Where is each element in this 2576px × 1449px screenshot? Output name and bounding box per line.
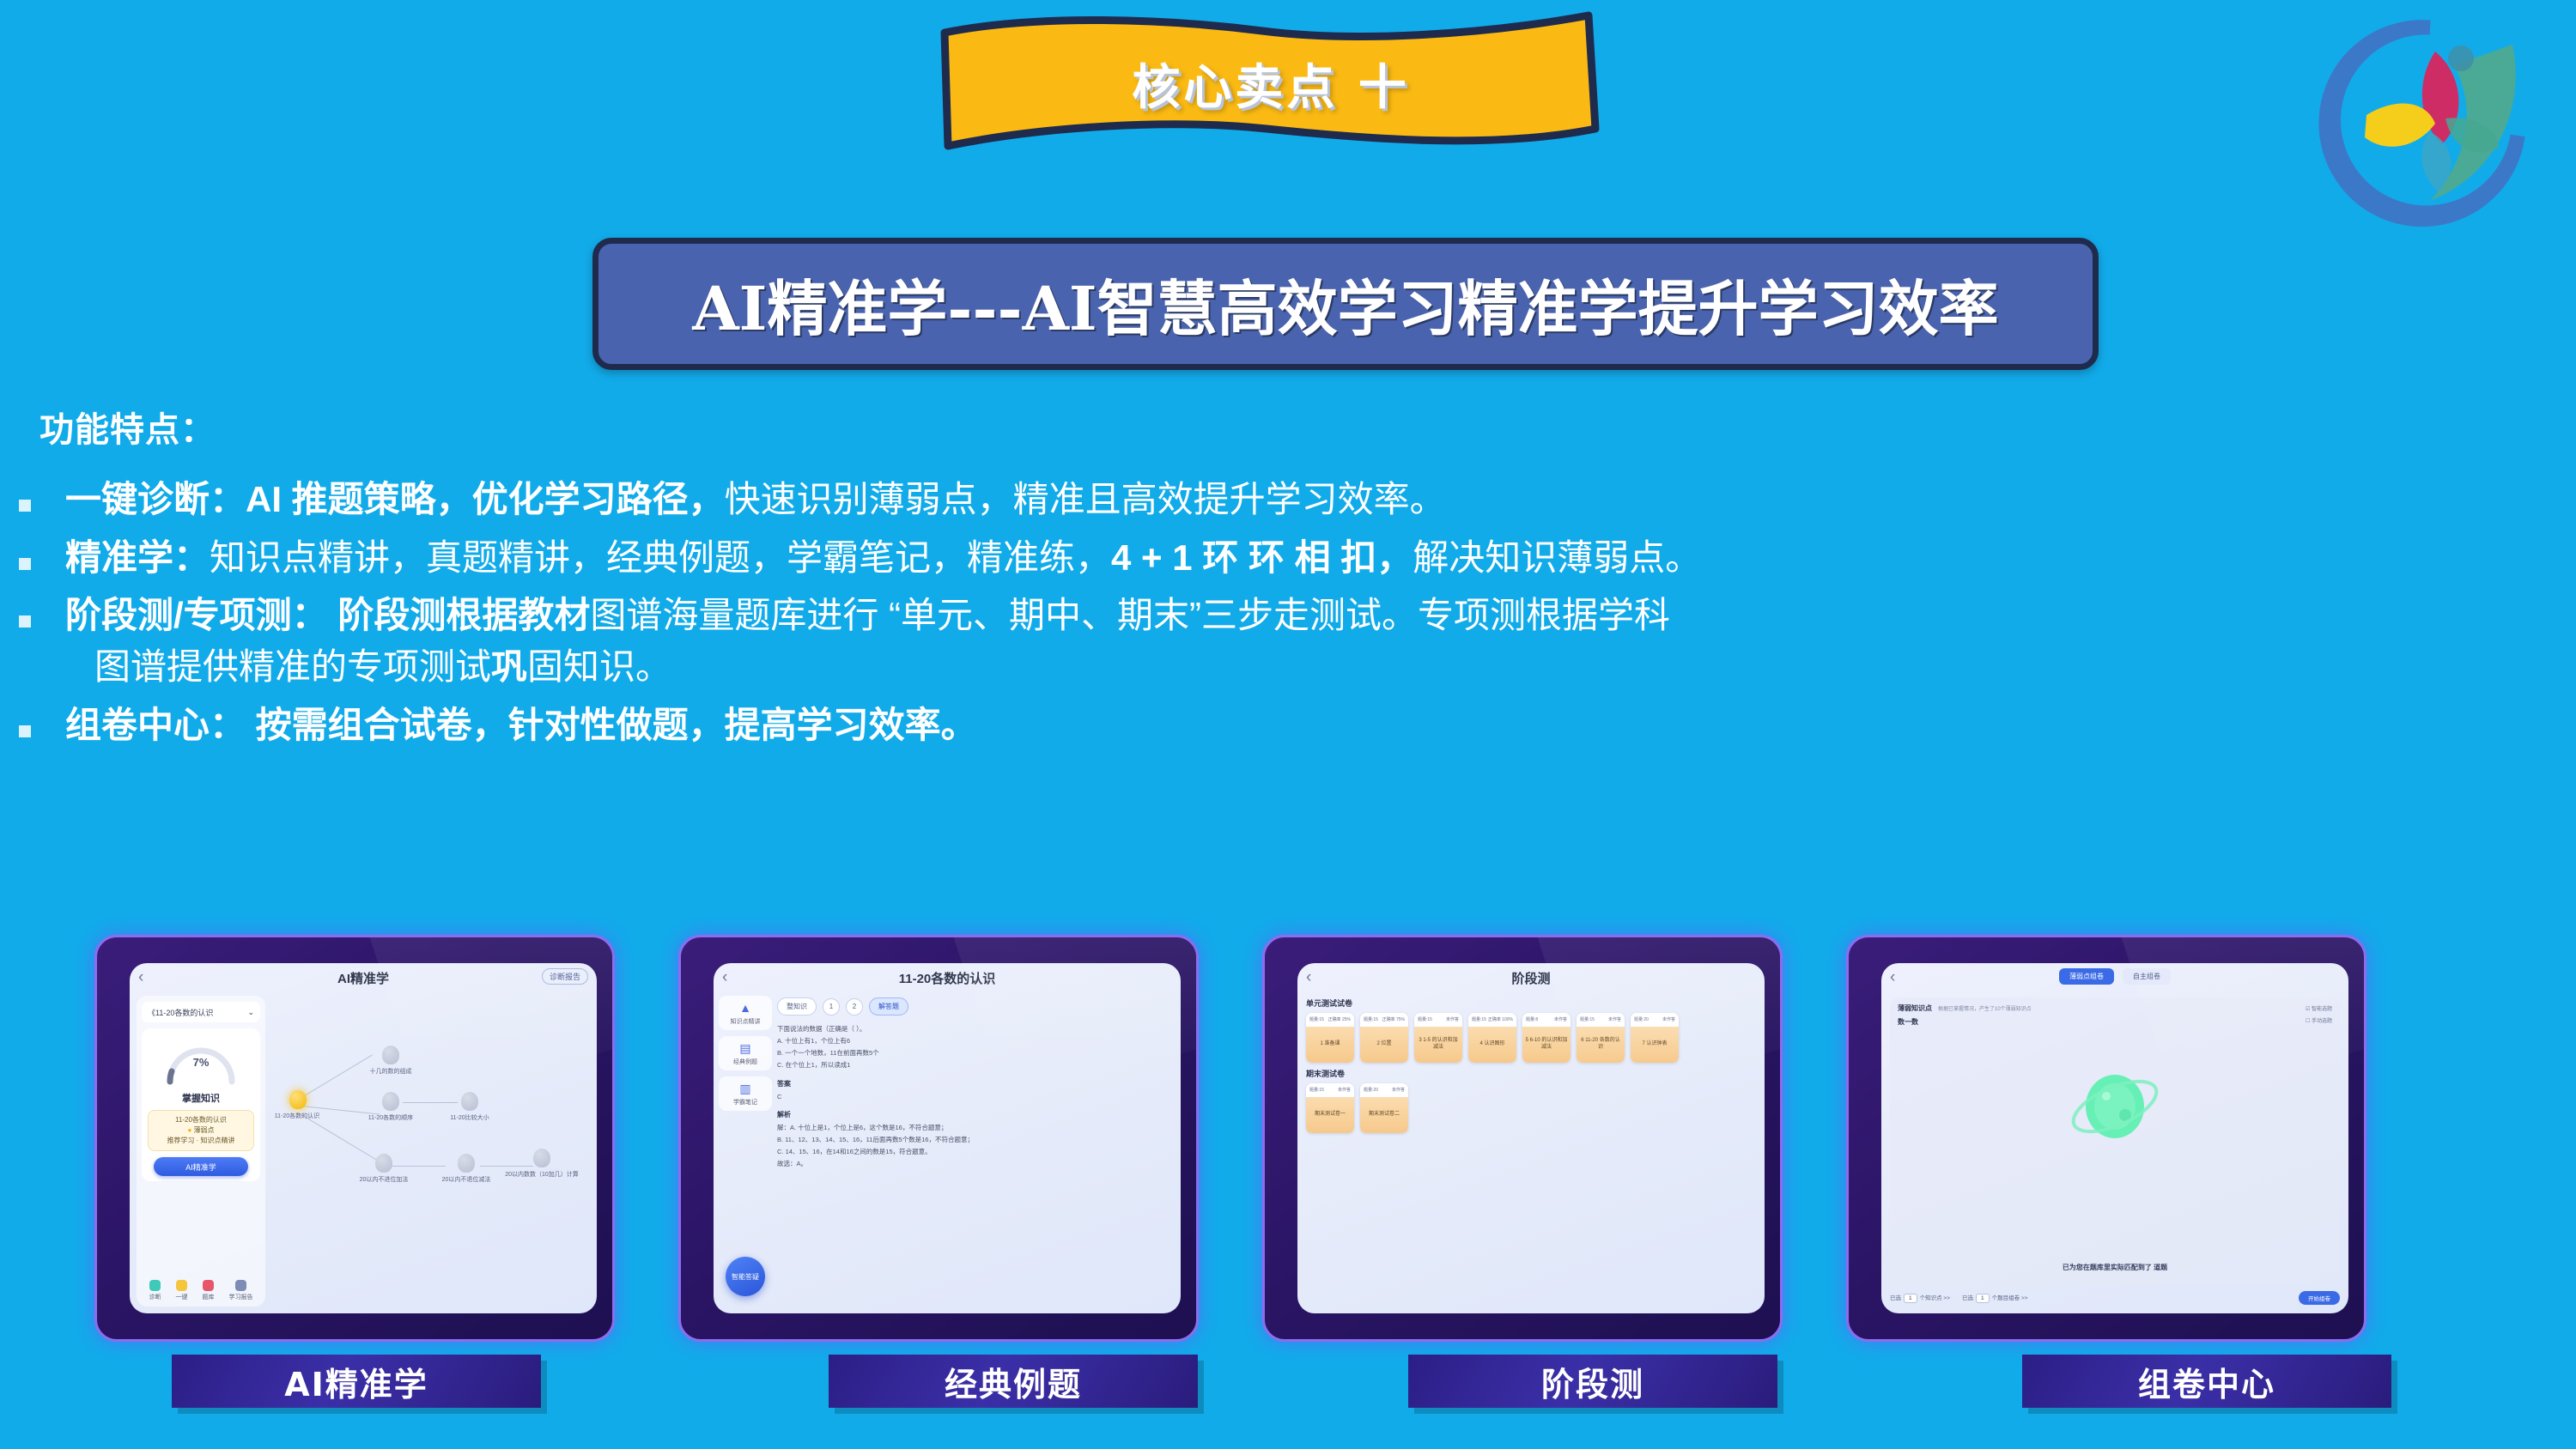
screen-title: 阶段测 bbox=[1297, 969, 1765, 987]
card-title: 4 认识图形 bbox=[1468, 1027, 1516, 1063]
graph-edge bbox=[480, 1166, 533, 1167]
slide-title-bar: AI精准学---AI智慧高效学习精准学提升学习效率 bbox=[592, 238, 2099, 370]
checkbox-auto-select[interactable]: ☑ 智能选题 bbox=[2306, 1004, 2332, 1016]
loading-animation bbox=[1890, 1059, 2340, 1154]
sidebar-item-report[interactable]: 学习报告 bbox=[229, 1280, 253, 1301]
footer-left-prefix: 已选 bbox=[1890, 1295, 1901, 1301]
company-logo bbox=[2301, 7, 2559, 239]
footer-mid-value[interactable]: 1 bbox=[1976, 1294, 1990, 1303]
question-line: C. 在个位上1，所以读成1 bbox=[777, 1059, 1174, 1071]
bullet-3-line2-strong: 巩 bbox=[491, 646, 527, 687]
slide-root: 核心卖点 十 AI精准学---AI智慧高效学习精准学提升学习效率 功能特点： 一… bbox=[0, 0, 2576, 1449]
weak-point-line2: 薄弱点 bbox=[194, 1126, 215, 1134]
planet-loading-icon bbox=[2064, 1062, 2166, 1151]
checkbox-auto-label: 智能选题 bbox=[2312, 1007, 2332, 1012]
panel-paper-builder[interactable]: ‹ 薄弱点组卷 自主组卷 薄弱知识点 根据已掌握情况，产生了10个薄弱知识点 数… bbox=[1829, 930, 2379, 1342]
screen-topbar: ‹ AI精准学 诊断报告 bbox=[130, 963, 597, 992]
selected-question-count: 已选1个题目组卷 >> bbox=[1962, 1293, 2028, 1303]
graph-node-label: 20以内数数（10加几）计算 bbox=[505, 1171, 579, 1179]
caption-label: 组卷中心 bbox=[2138, 1358, 2275, 1405]
tab-knowledge[interactable]: 整知识 bbox=[777, 997, 817, 1016]
bullet-marker-icon bbox=[19, 725, 31, 737]
study-icon bbox=[176, 1280, 187, 1291]
test-card[interactable]: 题量:8未作答 5 6-10 的认识和加减法 bbox=[1522, 1013, 1571, 1063]
explanation-line: 解：A. 十位上是1，个位上是6，这个数是16，不符合题意； bbox=[777, 1122, 1174, 1134]
tablet-frame: ‹ 阶段测 单元测试试卷 题量:15正确率 25% 1 准备课 题量:15正确率… bbox=[1262, 935, 1783, 1342]
ai-precision-button[interactable]: AI精准学 bbox=[154, 1157, 248, 1176]
slide-title: AI精准学---AI智慧高效学习精准学提升学习效率 bbox=[692, 261, 1998, 348]
card-count: 题量:15 bbox=[1418, 1016, 1432, 1022]
bullet-3-strong: 阶段测/专项测： 阶段测根据教材 bbox=[65, 595, 590, 635]
graph-node[interactable] bbox=[382, 1092, 399, 1111]
bullet-3-line2-b: 固知识。 bbox=[527, 646, 671, 687]
chapter-dropdown[interactable]: 《11-20各数的认识 ⌄ bbox=[142, 1002, 260, 1022]
mastery-percent: 7% bbox=[161, 1056, 240, 1069]
card-title: 期末测试卷二 bbox=[1360, 1097, 1408, 1133]
match-result-note: 已为您在题库里实际匹配到了 道题 bbox=[1890, 1263, 2340, 1272]
panel-classic-examples[interactable]: ‹ 11-20各数的认识 ▲ 知识点精讲 ▤ 经典例题 ▥ bbox=[661, 930, 1211, 1342]
footer-mid-suffix: 个题目组卷 >> bbox=[1992, 1295, 2028, 1301]
card-rate: 未作答 bbox=[1608, 1016, 1621, 1022]
footer-left-value[interactable]: 1 bbox=[1904, 1294, 1917, 1303]
practice-icon bbox=[203, 1280, 214, 1291]
card-rate: 未作答 bbox=[1338, 1087, 1351, 1093]
card-title: 1 准备课 bbox=[1306, 1027, 1354, 1063]
weak-point-desc: 根据已掌握情况，产生了10个薄弱知识点 bbox=[1938, 1004, 2032, 1012]
knowledge-icon: ▲ bbox=[720, 1002, 770, 1014]
tablet-frame: ‹ 11-20各数的认识 ▲ 知识点精讲 ▤ 经典例题 ▥ bbox=[678, 935, 1199, 1342]
mastery-card: 7% 掌握知识 11-20各数的认识 ● 薄弱点 推荐学习 · 知识点精讲 AI… bbox=[142, 1028, 260, 1181]
logo-icon bbox=[2301, 7, 2559, 239]
graph-edge bbox=[301, 1055, 373, 1098]
screen-title: 11-20各数的认识 bbox=[714, 969, 1181, 987]
bullet-2-strong-2: 4 + 1 环 环 相 扣， bbox=[1111, 537, 1413, 578]
graph-node-label: 20以内不退位减法 bbox=[429, 1176, 503, 1184]
panel-ai-precision-learning[interactable]: ‹ AI精准学 诊断报告 《11-20各数的认识 ⌄ bbox=[77, 930, 627, 1342]
feature-bullet-4: 组卷中心： 按需组合试卷，针对性做题，提高学习效率。 bbox=[0, 700, 2576, 751]
tab-page-1[interactable]: 1 bbox=[823, 998, 840, 1016]
sidebar-item-diagnose[interactable]: 诊断 bbox=[149, 1280, 161, 1301]
diagnose-label: 诊断 bbox=[149, 1294, 161, 1300]
tab-answer[interactable]: 解答题 bbox=[869, 997, 908, 1016]
graph-node-root[interactable] bbox=[289, 1090, 307, 1109]
weak-point-line3: 推荐学习 · 知识点精讲 bbox=[151, 1136, 251, 1146]
card-rate: 未作答 bbox=[1662, 1016, 1675, 1022]
bullet-marker-icon bbox=[19, 615, 31, 627]
panel-captions: AI精准学 经典例题 阶段测 组卷中心 bbox=[0, 1355, 2576, 1410]
knowledge-graph[interactable]: 11-20各数的认识 十几的数的组成 11-20各数的顺序 11-20比较大小 … bbox=[276, 997, 592, 1307]
explanation-line: C. 14、15、16，在14和16之间的数是15，符合题意。 bbox=[777, 1146, 1174, 1158]
card-rate: 未作答 bbox=[1392, 1087, 1405, 1093]
builder-body: 薄弱知识点 根据已掌握情况，产生了10个薄弱知识点 数一数 ☑ 智能选题 ☐ bbox=[1890, 997, 2340, 1284]
diagnosis-report-button[interactable]: 诊断报告 bbox=[542, 968, 588, 985]
bullet-3-line2-a: 图谱提供精准的专项测试 bbox=[94, 646, 491, 687]
builder-footer: 已选1个知识点 >> 已选1个题目组卷 >> 开始组卷 bbox=[1890, 1288, 2340, 1308]
example-icon: ▤ bbox=[720, 1042, 770, 1054]
answer-value: C bbox=[777, 1091, 1174, 1103]
selected-knowledge-count: 已选1个知识点 >> bbox=[1890, 1293, 1950, 1303]
explanation-line: 故选：A。 bbox=[777, 1158, 1174, 1170]
final-test-card-grid: 题量:15未作答 期末测试卷一 题量:20未作答 期末测试卷二 bbox=[1297, 1083, 1765, 1133]
feature-bullet-1: 一键诊断：AI 推题策略，优化学习路径，快速识别薄弱点，精准且高效提升学习效率。 bbox=[0, 474, 2576, 525]
card-title: 2 位置 bbox=[1360, 1027, 1408, 1063]
bullet-2-normal-2: 解决知识薄弱点。 bbox=[1413, 537, 1701, 578]
card-rate: 未作答 bbox=[1554, 1016, 1567, 1022]
graph-node[interactable] bbox=[461, 1092, 478, 1111]
card-count: 题量:15 bbox=[1309, 1016, 1324, 1022]
card-title: 7 认识钟表 bbox=[1631, 1027, 1679, 1063]
test-card[interactable]: 题量:15正确率 75% 2 位置 bbox=[1360, 1013, 1408, 1063]
weak-point-title: 11-20各数的认识 bbox=[151, 1115, 251, 1125]
tab-self-paper[interactable]: 自主组卷 bbox=[2123, 968, 2171, 985]
nav-item-example[interactable]: ▤ 经典例题 bbox=[719, 1036, 772, 1070]
card-count: 题量:15 bbox=[1580, 1016, 1595, 1022]
card-title: 6 11-20 各数的认识 bbox=[1577, 1027, 1625, 1063]
checkbox-manual-label: 手动选题 bbox=[2312, 1019, 2332, 1024]
test-card[interactable]: 题量:15未作答 6 11-20 各数的认识 bbox=[1577, 1013, 1625, 1063]
graph-edge bbox=[391, 1166, 446, 1167]
practice-label: 题库 bbox=[203, 1294, 215, 1300]
nav-notes-label: 学霸笔记 bbox=[733, 1100, 757, 1106]
screenshot-panels: ‹ AI精准学 诊断报告 《11-20各数的认识 ⌄ bbox=[0, 930, 2576, 1342]
weak-point-card: 11-20各数的认识 ● 薄弱点 推荐学习 · 知识点精讲 bbox=[148, 1110, 254, 1151]
caption-label: 经典例题 bbox=[945, 1358, 1082, 1405]
screen-title: AI精准学 bbox=[130, 969, 597, 987]
builder-tabs: 薄弱点组卷 自主组卷 bbox=[1881, 968, 2348, 985]
app-screen: ‹ 薄弱点组卷 自主组卷 薄弱知识点 根据已掌握情况，产生了10个薄弱知识点 数… bbox=[1881, 963, 2348, 1313]
footer-mid-prefix: 已选 bbox=[1962, 1295, 1973, 1301]
features-heading: 功能特点： bbox=[39, 402, 216, 452]
card-count: 题量:15 bbox=[1364, 1016, 1378, 1022]
card-count: 题量:20 bbox=[1364, 1087, 1378, 1093]
notes-icon: ▥ bbox=[720, 1082, 770, 1094]
question-line: B. 一个一个地数，11在前面再数5个 bbox=[777, 1047, 1174, 1059]
card-rate: 未作答 bbox=[1446, 1016, 1459, 1022]
question-line: A. 十位上有1，个位上有6 bbox=[777, 1035, 1174, 1047]
test-card[interactable]: 题量:15未作答 3 1-5 的认识和加减法 bbox=[1414, 1013, 1462, 1063]
screen-topbar: ‹ 11-20各数的认识 bbox=[714, 963, 1181, 992]
card-title: 5 6-10 的认识和加减法 bbox=[1522, 1027, 1571, 1063]
footer-left-suffix: 个知识点 >> bbox=[1920, 1295, 1950, 1301]
graph-node-label: 十几的数的组成 bbox=[354, 1068, 428, 1076]
unit-test-card-grid: 题量:15正确率 25% 1 准备课 题量:15正确率 75% 2 位置 题量:… bbox=[1297, 1013, 1765, 1063]
checked-box-icon: ☑ bbox=[2306, 1007, 2310, 1012]
back-chevron-icon[interactable]: ‹ bbox=[1890, 968, 1895, 987]
weak-dot-icon: ● bbox=[187, 1126, 191, 1134]
test-card[interactable]: 题量:15正确率 100% 4 认识图形 bbox=[1468, 1013, 1516, 1063]
caption-stage-test: 阶段测 bbox=[1408, 1355, 1777, 1408]
bullet-2-normal: 知识点精讲，真题精讲，经典例题，学霸笔记，精准练， bbox=[210, 537, 1111, 578]
graph-node[interactable] bbox=[533, 1149, 550, 1167]
test-card[interactable]: 题量:15正确率 25% 1 准备课 bbox=[1306, 1013, 1354, 1063]
card-rate: 正确率 100% bbox=[1488, 1016, 1513, 1022]
caption-ai-precision-learning: AI精准学 bbox=[172, 1355, 541, 1408]
nav-example-label: 经典例题 bbox=[733, 1059, 757, 1065]
section-heading-final: 期末测试卷 bbox=[1306, 1068, 1765, 1079]
answer-heading: 答案 bbox=[777, 1079, 1174, 1088]
selection-mode-group: ☑ 智能选题 ☐ 手动选题 bbox=[2306, 1004, 2332, 1028]
mastery-label: 掌握知识 bbox=[146, 1091, 256, 1105]
diagnose-icon bbox=[149, 1280, 161, 1291]
weak-point-sub: 数一数 bbox=[1890, 1013, 2340, 1027]
tablet-frame: ‹ 薄弱点组卷 自主组卷 薄弱知识点 根据已掌握情况，产生了10个薄弱知识点 数… bbox=[1846, 935, 2366, 1342]
sidebar-item-study[interactable]: 一键 bbox=[176, 1280, 188, 1301]
question-area: 整知识 1 2 解答题 下面说法的数据（正确是（ ）。 A. 十位上有1，个位上… bbox=[777, 997, 1174, 1308]
graph-node-label: 20以内不进位加法 bbox=[347, 1176, 421, 1184]
bullet-1-normal: 快速识别薄弱点，精准且高效提升学习效率。 bbox=[725, 479, 1446, 519]
screen-topbar: ‹ 阶段测 bbox=[1297, 963, 1765, 992]
feature-bullet-2: 精准学：知识点精讲，真题精讲，经典例题，学霸笔记，精准练，4 + 1 环 环 相… bbox=[0, 532, 2576, 584]
tablet-frame: ‹ AI精准学 诊断报告 《11-20各数的认识 ⌄ bbox=[94, 935, 615, 1342]
app-screen: ‹ AI精准学 诊断报告 《11-20各数的认识 ⌄ bbox=[130, 963, 597, 1313]
core-selling-point-banner: 核心卖点 十 bbox=[936, 9, 1606, 159]
weak-point-row: 薄弱知识点 根据已掌握情况，产生了10个薄弱知识点 bbox=[1890, 997, 2340, 1013]
bullet-marker-icon bbox=[19, 500, 31, 512]
test-card[interactable]: 题量:20未作答 7 认识钟表 bbox=[1631, 1013, 1679, 1063]
section-heading-unit: 单元测试试卷 bbox=[1306, 997, 1765, 1009]
bullet-4-strong: 组卷中心： 按需组合试卷，针对性做题，提高学习效率。 bbox=[65, 705, 977, 745]
feature-bullet-list: 一键诊断：AI 推题策略，优化学习路径，快速识别薄弱点，精准且高效提升学习效率。… bbox=[0, 474, 2576, 757]
report-label: 学习报告 bbox=[229, 1294, 253, 1300]
tab-weak-point-paper[interactable]: 薄弱点组卷 bbox=[2059, 968, 2114, 985]
start-build-button[interactable]: 开始组卷 bbox=[2299, 1291, 2340, 1305]
card-title: 期末测试卷一 bbox=[1306, 1097, 1354, 1133]
study-label: 一键 bbox=[176, 1294, 188, 1300]
card-count: 题量:20 bbox=[1634, 1016, 1649, 1022]
graph-node[interactable] bbox=[458, 1154, 475, 1173]
sidebar-icon-row: 诊断 一键 题库 学习 bbox=[142, 1274, 260, 1301]
chapter-dropdown-value: 《11-20各数的认识 bbox=[148, 1007, 213, 1018]
graph-node[interactable] bbox=[375, 1154, 392, 1173]
weak-point-label: 薄弱知识点 bbox=[1898, 1003, 1932, 1013]
app-screen: ‹ 11-20各数的认识 ▲ 知识点精讲 ▤ 经典例题 ▥ bbox=[714, 963, 1181, 1313]
caption-paper-builder: 组卷中心 bbox=[2022, 1355, 2391, 1408]
banner-title: 核心卖点 十 bbox=[936, 9, 1606, 159]
bullet-3-normal: 图谱海量题库进行 “单元、期中、期末”三步走测试。专项测根据学科 bbox=[590, 595, 1670, 635]
card-title: 3 1-5 的认识和加减法 bbox=[1414, 1027, 1462, 1063]
explanation-line: B. 11、12、13、14、15、16，11后面再数5个数是16，不符合题意； bbox=[777, 1134, 1174, 1146]
bullet-2-strong: 精准学： bbox=[65, 537, 210, 578]
card-rate: 正确率 25% bbox=[1328, 1016, 1351, 1022]
graph-node-label: 11-20比较大小 bbox=[433, 1114, 507, 1122]
graph-node-root-label: 11-20各数的认识 bbox=[260, 1113, 334, 1120]
nav-item-notes[interactable]: ▥ 学霸笔记 bbox=[719, 1076, 772, 1111]
app-screen: ‹ 阶段测 单元测试试卷 题量:15正确率 25% 1 准备课 题量:15正确率… bbox=[1297, 963, 1765, 1313]
sidebar-item-practice[interactable]: 题库 bbox=[203, 1280, 215, 1301]
card-count: 题量:15 bbox=[1472, 1016, 1486, 1022]
question-tabs: 整知识 1 2 解答题 bbox=[777, 997, 1174, 1016]
report-icon bbox=[235, 1280, 246, 1291]
graph-edge bbox=[403, 1102, 458, 1103]
checkbox-manual-select[interactable]: ☐ 手动选题 bbox=[2306, 1016, 2332, 1028]
nav-knowledge-label: 知识点精讲 bbox=[731, 1019, 761, 1025]
bullet-marker-icon bbox=[19, 558, 31, 570]
unchecked-box-icon: ☐ bbox=[2306, 1019, 2310, 1024]
caption-label: AI精准学 bbox=[284, 1358, 428, 1405]
question-line: 下面说法的数据（正确是（ ）。 bbox=[777, 1023, 1174, 1035]
test-card[interactable]: 题量:20未作答 期末测试卷二 bbox=[1360, 1083, 1408, 1133]
nav-item-knowledge[interactable]: ▲ 知识点精讲 bbox=[719, 996, 772, 1030]
graph-node-label: 11-20各数的顺序 bbox=[354, 1114, 428, 1122]
bullet-1-strong: 一键诊断：AI 推题策略，优化学习路径， bbox=[65, 479, 725, 519]
left-nav: ▲ 知识点精讲 ▤ 经典例题 ▥ 学霸笔记 智能答疑 bbox=[719, 996, 772, 1308]
smart-qa-button[interactable]: 智能答疑 bbox=[726, 1257, 765, 1296]
feature-bullet-3: 阶段测/专项测： 阶段测根据教材图谱海量题库进行 “单元、期中、期末”三步走测试… bbox=[0, 590, 2576, 692]
tab-page-2[interactable]: 2 bbox=[846, 998, 863, 1016]
left-sidebar: 《11-20各数的认识 ⌄ 7% 掌握知识 bbox=[137, 996, 265, 1307]
chevron-down-icon: ⌄ bbox=[247, 1008, 254, 1017]
panel-stage-test[interactable]: ‹ 阶段测 单元测试试卷 题量:15正确率 25% 1 准备课 题量:15正确率… bbox=[1245, 930, 1795, 1342]
mastery-gauge: 7% bbox=[161, 1037, 240, 1087]
graph-node[interactable] bbox=[382, 1046, 399, 1064]
card-rate: 正确率 75% bbox=[1382, 1016, 1405, 1022]
explanation-heading: 解析 bbox=[777, 1110, 1174, 1119]
card-count: 题量:8 bbox=[1526, 1016, 1538, 1022]
card-count: 题量:15 bbox=[1309, 1087, 1324, 1093]
caption-label: 阶段测 bbox=[1541, 1358, 1644, 1405]
test-card[interactable]: 题量:15未作答 期末测试卷一 bbox=[1306, 1083, 1354, 1133]
caption-classic-examples: 经典例题 bbox=[829, 1355, 1198, 1408]
